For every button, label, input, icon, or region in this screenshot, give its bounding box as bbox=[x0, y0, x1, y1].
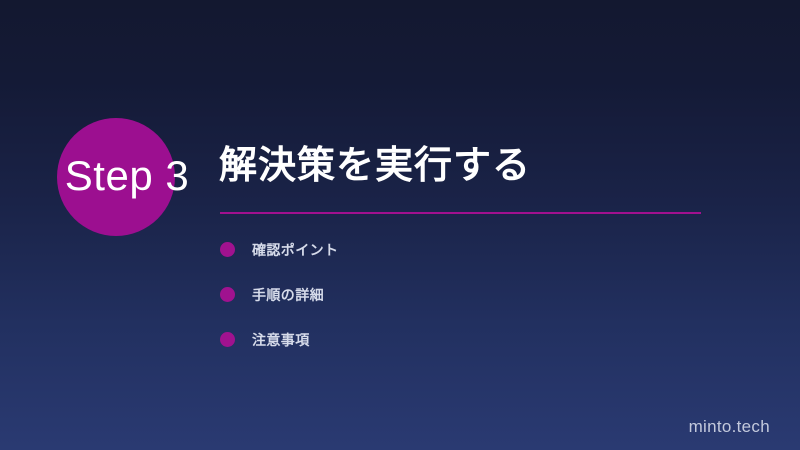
title-divider bbox=[220, 212, 701, 214]
slide-canvas: Step 3 解決策を実行する 確認ポイント 手順の詳細 注意事項 minto.… bbox=[0, 0, 800, 450]
title-block: 解決策を実行する bbox=[219, 143, 759, 189]
footer-brand: minto.tech bbox=[689, 417, 770, 437]
bullet-dot-icon bbox=[220, 287, 235, 302]
bullet-label: 注意事項 bbox=[252, 331, 310, 349]
list-item: 注意事項 bbox=[220, 326, 338, 353]
list-item: 確認ポイント bbox=[220, 236, 338, 263]
bullet-list: 確認ポイント 手順の詳細 注意事項 bbox=[220, 236, 338, 371]
bullet-label: 手順の詳細 bbox=[252, 286, 324, 304]
bullet-label: 確認ポイント bbox=[252, 241, 338, 259]
step-badge-label: Step 3 bbox=[47, 152, 207, 200]
bullet-dot-icon bbox=[220, 242, 235, 257]
bullet-dot-icon bbox=[220, 332, 235, 347]
list-item: 手順の詳細 bbox=[220, 281, 338, 308]
slide-title: 解決策を実行する bbox=[219, 143, 759, 189]
